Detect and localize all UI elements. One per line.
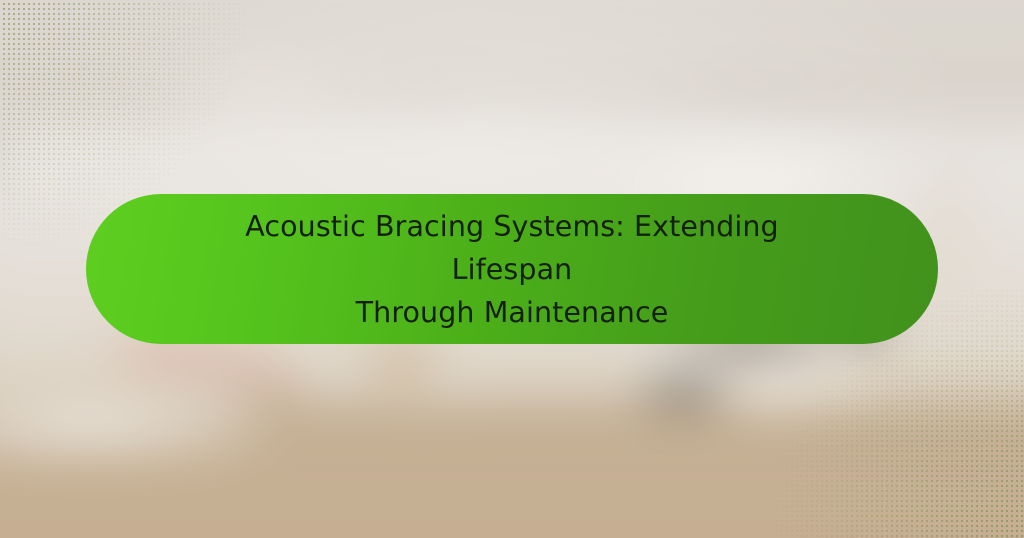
banner-canvas: Acoustic Bracing Systems: Extending Life… <box>0 0 1024 538</box>
title-pill-banner: Acoustic Bracing Systems: Extending Life… <box>86 194 938 344</box>
page-title: Acoustic Bracing Systems: Extending Life… <box>182 205 842 334</box>
